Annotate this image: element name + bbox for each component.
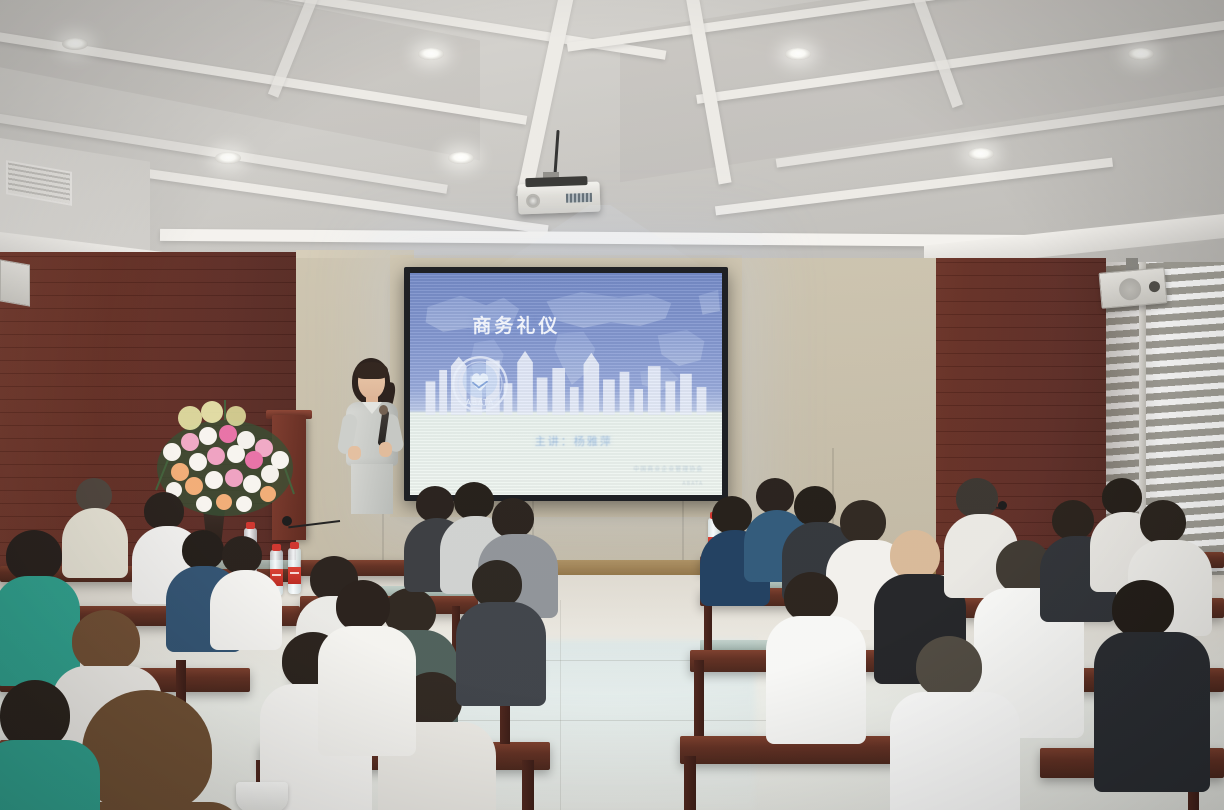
paper-cup [236,782,288,810]
abata-logo-icon: ABATA [451,355,509,413]
slide-title: 商务礼仪 [472,311,560,338]
microphone-head-icon [379,405,388,415]
speaker-tweeter-icon [1149,281,1161,293]
ceiling-downlight [448,152,474,164]
presenter-right-hand [379,442,392,457]
presenter-skirt [351,464,393,514]
projector-lens-icon [526,194,540,208]
projector-vent-icon [566,193,592,203]
presenter [332,358,410,516]
ceiling-downlight [215,152,241,164]
speaker-cone-icon [1118,277,1142,301]
ceiling-downlight [1128,48,1154,60]
svg-text:ABATA: ABATA [465,398,493,407]
slide-presenter-line: 主讲：杨雅萍 [535,433,613,449]
wall-speaker-right [1099,267,1168,309]
mic-capsule-icon [998,501,1007,510]
conference-room-photo: 商务礼仪 ABATA 主讲：杨雅萍 中国商业企业管理协会 ABATA [0,0,1224,810]
ceiling-projector [518,182,601,215]
presenter-fringe [355,362,388,379]
ceiling-downlight [418,48,444,60]
projector-bracket-top [525,176,587,187]
coffered-ceiling [0,0,1224,262]
ceiling-downlight [968,148,994,160]
mic-capsule-icon [282,516,292,526]
ceiling-downlight [785,48,811,60]
ceiling-downlight [62,38,88,50]
slide-organization-line: 中国商业企业管理协会 [633,464,703,473]
wall-speaker-left [0,259,30,306]
presenter-left-hand [348,446,361,460]
water-bottle [288,548,301,594]
gooseneck-microphone [288,520,340,523]
projection-screen: 商务礼仪 ABATA 主讲：杨雅萍 中国商业企业管理协会 ABATA [404,267,728,501]
slide-watermark: ABATA [682,481,703,487]
projected-slide: 商务礼仪 ABATA 主讲：杨雅萍 中国商业企业管理协会 ABATA [410,273,722,495]
